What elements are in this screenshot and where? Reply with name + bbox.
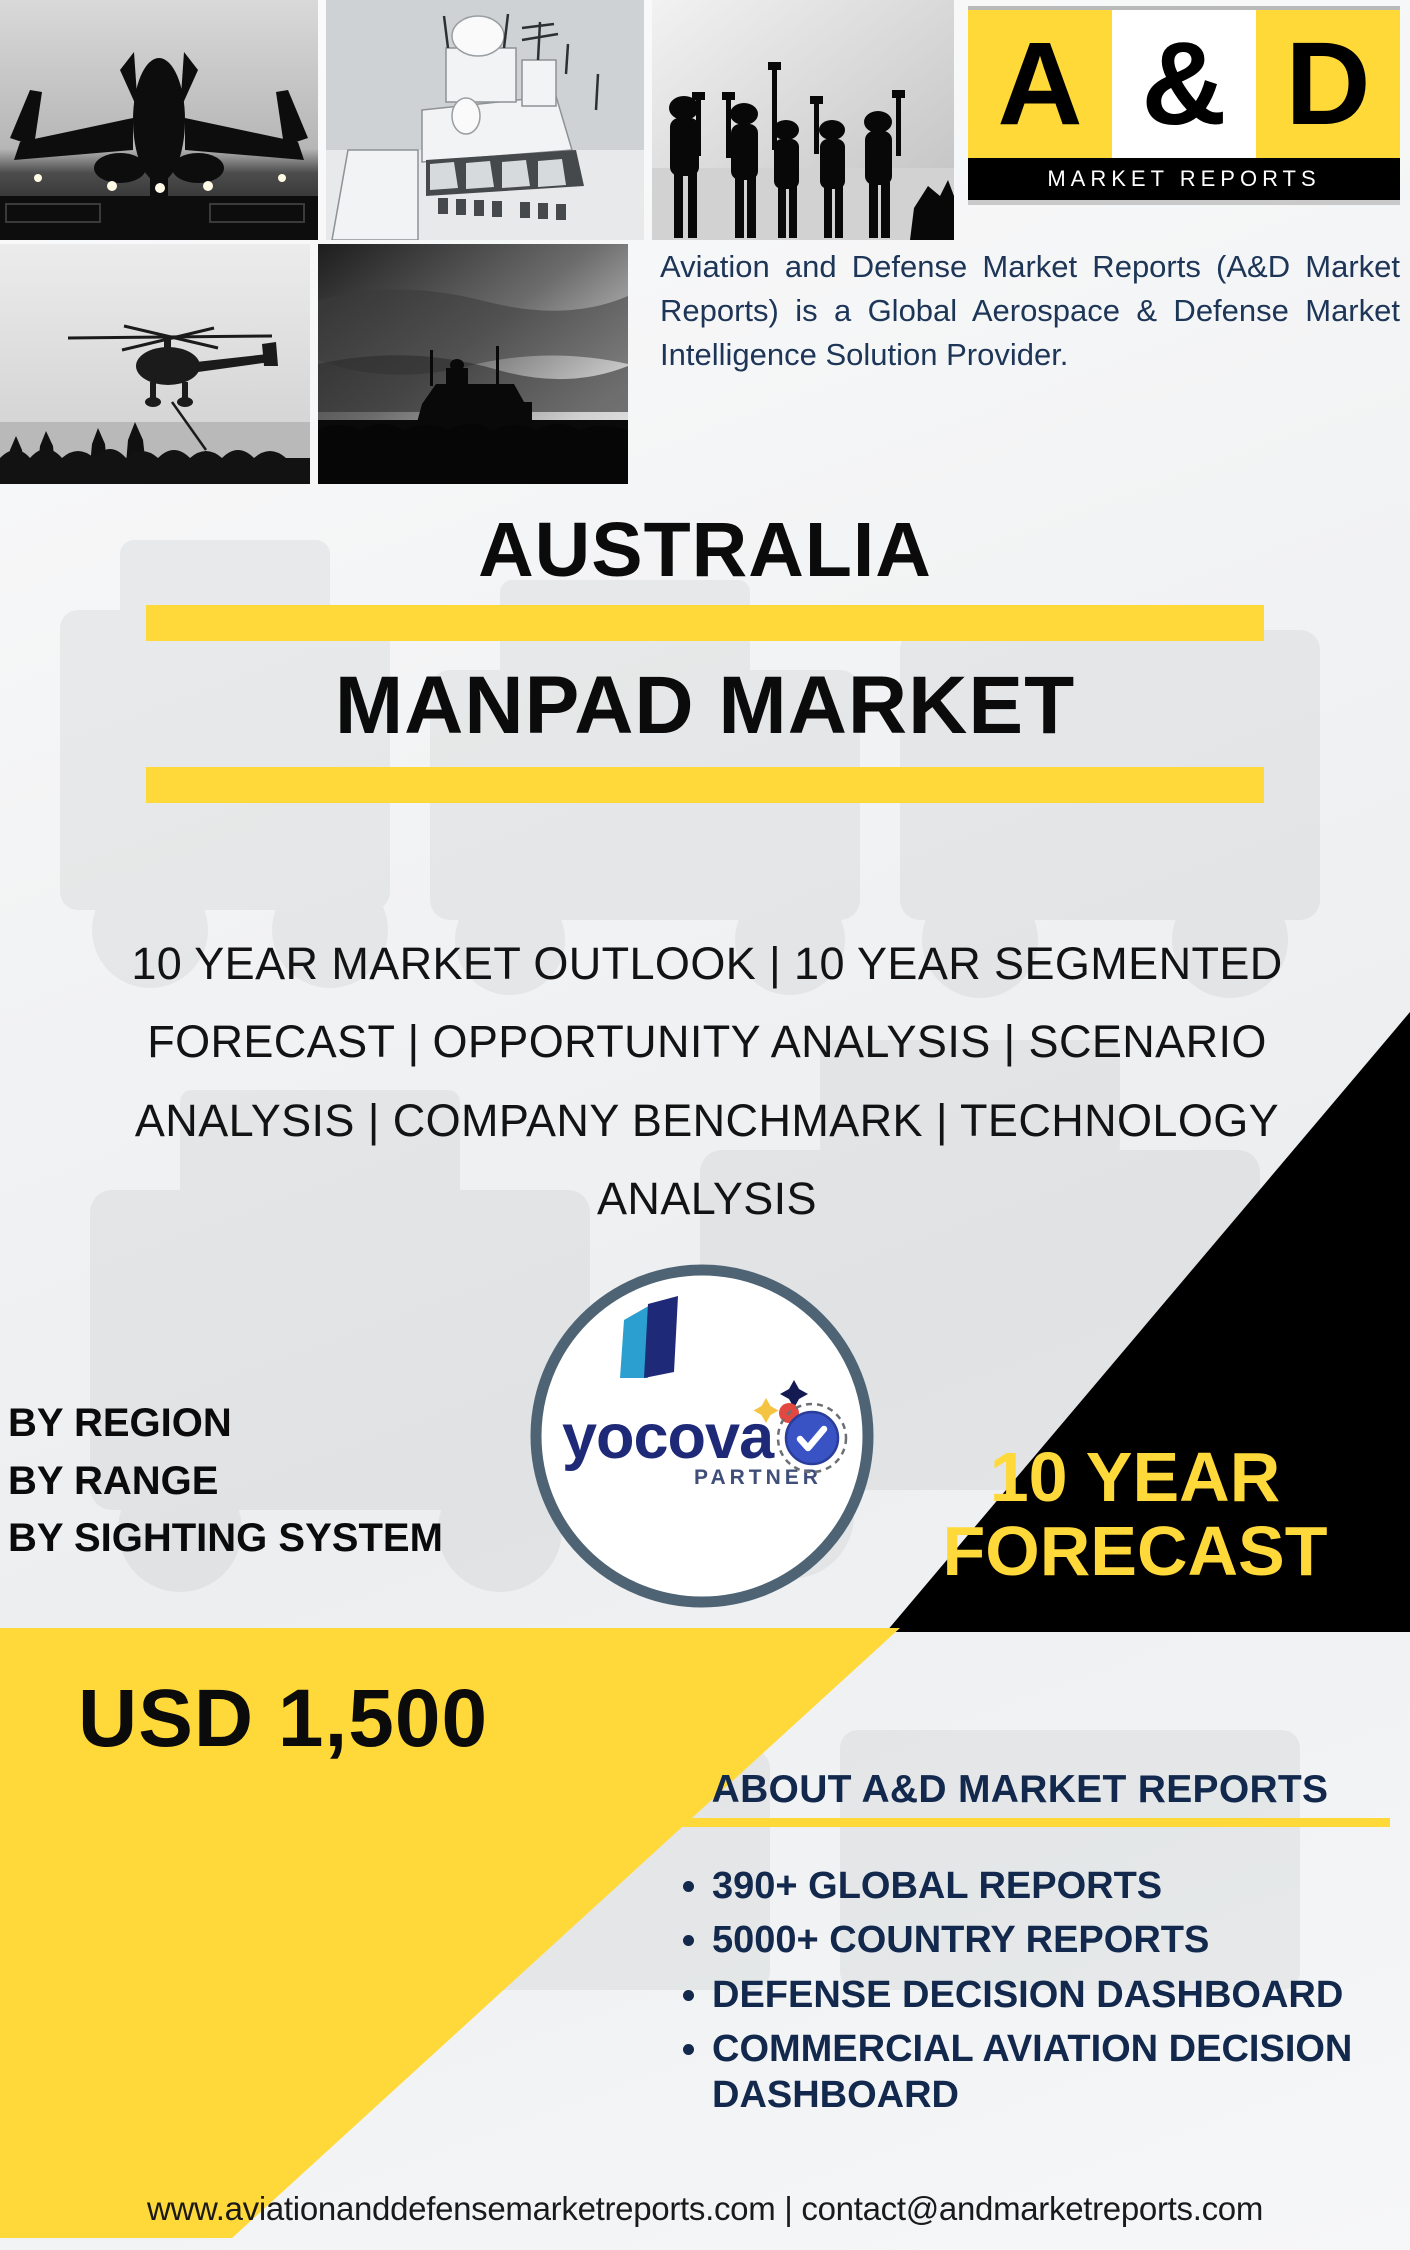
price-tag: USD 1,500 (78, 1672, 488, 1766)
logo-cell-a: A (968, 10, 1112, 158)
list-item: 5000+ COUNTRY REPORTS (712, 1917, 1390, 1963)
footer-contact[interactable]: www.aviationanddefensemarketreports.com … (0, 2190, 1410, 2228)
yocova-partner-badge: yocova PARTNER (528, 1262, 876, 1610)
hero-photo-grid (0, 0, 672, 484)
photo-fighter-jet-on-carrier-deck (0, 0, 318, 240)
photo-helicopter-troop-insertion (0, 244, 310, 484)
company-intro-paragraph: Aviation and Defense Market Reports (A&D… (660, 245, 1400, 377)
svg-text:yocova: yocova (562, 1402, 775, 1472)
forecast-line-2: FORECAST (860, 1514, 1410, 1588)
title-rule-top (146, 605, 1264, 641)
logo-letter-row: A & D (968, 10, 1400, 158)
logo-cell-ampersand: & (1112, 10, 1256, 158)
about-section: ABOUT A&D MARKET REPORTS 390+ GLOBAL REP… (650, 1768, 1390, 2127)
report-cover-poster: A & D MARKET REPORTS Aviation and Defens… (0, 0, 1410, 2250)
about-bullet-list: 390+ GLOBAL REPORTS 5000+ COUNTRY REPORT… (650, 1863, 1390, 2119)
list-item: COMMERCIAL AVIATION DECISION DASHBOARD (712, 2026, 1390, 2119)
photo-naval-warship-superstructure (326, 0, 644, 240)
list-item: DEFENSE DECISION DASHBOARD (712, 1972, 1390, 2018)
logo-letter-d: D (1285, 25, 1370, 143)
logo-bottom-rule (968, 200, 1400, 205)
forecast-line-1: 10 YEAR (860, 1440, 1410, 1514)
photo-soldiers-silhouette-patrol (652, 0, 954, 240)
logo-subtitle-bar: MARKET REPORTS (968, 158, 1400, 200)
about-heading-underline (650, 1818, 1390, 1827)
list-item: 390+ GLOBAL REPORTS (712, 1863, 1390, 1909)
report-title-block: AUSTRALIA MANPAD MARKET (0, 510, 1410, 803)
logo-cell-d: D (1256, 10, 1400, 158)
page-title-market: MANPAD MARKET (0, 663, 1410, 749)
logo-subtitle-text: MARKET REPORTS (1047, 166, 1320, 192)
logo-letter-a: A (997, 25, 1082, 143)
forecast-callout: 10 YEAR FORECAST (860, 1440, 1410, 1588)
title-rule-bottom (146, 767, 1264, 803)
about-heading: ABOUT A&D MARKET REPORTS (650, 1768, 1390, 1812)
brand-logo: A & D MARKET REPORTS (968, 6, 1400, 206)
svg-text:PARTNER: PARTNER (694, 1466, 822, 1489)
photo-armored-vehicle-at-dusk (318, 244, 628, 484)
page-title-country: AUSTRALIA (0, 510, 1410, 591)
report-scope-subtitle: 10 YEAR MARKET OUTLOOK | 10 YEAR SEGMENT… (52, 925, 1362, 1238)
logo-letter-ampersand: & (1141, 25, 1226, 143)
